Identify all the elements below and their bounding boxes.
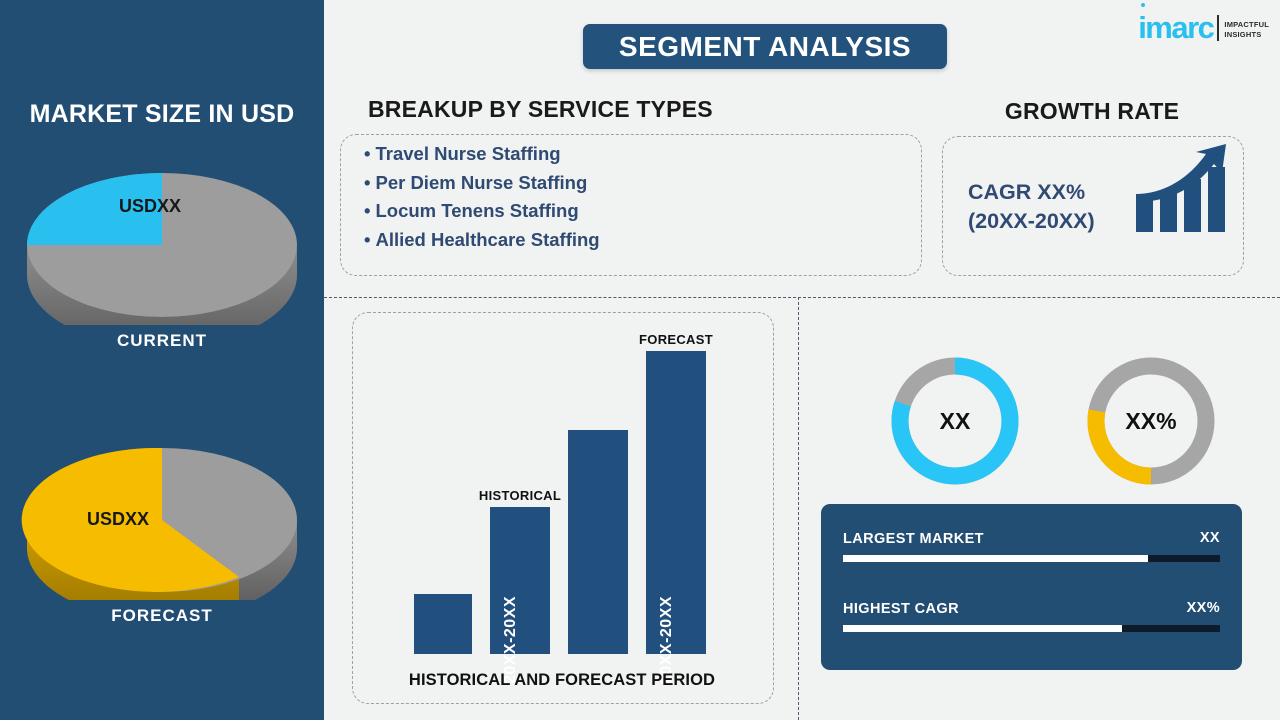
bar-2-top-label: HISTORICAL (479, 488, 561, 503)
cagr-donut: XX% (1082, 352, 1220, 490)
stat-largest-market-fill (843, 555, 1148, 562)
logo-tagline-line2: INSIGHTS (1224, 30, 1269, 40)
page-title: SEGMENT ANALYSIS (583, 24, 947, 69)
market-size-sidebar: MARKET SIZE IN USD USDXX CURRENT (0, 0, 324, 720)
bar-2: HISTORICAL 20XX-20XX (490, 507, 550, 654)
imarc-logo: imarc IMPACTFUL INSIGHTS (1138, 12, 1269, 43)
bullet-icon: • (364, 200, 370, 221)
bar-3 (568, 430, 628, 654)
stat-highest-cagr: HIGHEST CAGR XX% (843, 600, 1220, 632)
infographic-canvas: MARKET SIZE IN USD USDXX CURRENT (0, 0, 1280, 720)
forecast-pie-caption: FORECAST (0, 606, 324, 626)
logo-wordmark-text: imarc (1138, 10, 1213, 45)
bullet-icon: • (364, 143, 370, 164)
forecast-pie-value: USDXX (87, 509, 149, 529)
service-types-heading: BREAKUP BY SERVICE TYPES (368, 96, 713, 123)
list-item-label: Allied Healthcare Staffing (375, 229, 599, 250)
market-share-donut-value: XX (940, 408, 971, 434)
stat-highest-cagr-value: XX% (1187, 600, 1220, 616)
stat-largest-market: LARGEST MARKET XX (843, 530, 1220, 562)
forecast-pie-block: USDXX FORECAST (0, 425, 324, 626)
key-stats-panel: LARGEST MARKET XX HIGHEST CAGR XX% (821, 504, 1242, 670)
list-item: •Travel Nurse Staffing (364, 140, 600, 169)
bullet-icon: • (364, 229, 370, 250)
list-item: •Locum Tenens Staffing (364, 197, 600, 226)
list-item-label: Locum Tenens Staffing (375, 200, 578, 221)
cagr-text: CAGR XX% (20XX-20XX) (968, 178, 1095, 236)
stat-largest-market-value: XX (1200, 530, 1220, 546)
service-types-list: •Travel Nurse Staffing •Per Diem Nurse S… (364, 140, 600, 254)
stat-highest-cagr-track (843, 625, 1220, 632)
bar-4: FORECAST 20XX-20XX (646, 351, 706, 654)
stat-highest-cagr-label: HIGHEST CAGR (843, 601, 959, 617)
current-pie-chart: USDXX (17, 150, 307, 325)
current-pie-block: USDXX CURRENT (0, 150, 324, 351)
logo-tagline-line1: IMPACTFUL (1224, 20, 1269, 30)
horizontal-divider (324, 297, 1280, 298)
list-item: •Per Diem Nurse Staffing (364, 169, 600, 198)
forecast-pie-chart: USDXX (17, 425, 307, 600)
growth-arrow-bars-icon (1134, 142, 1230, 234)
vertical-divider (798, 297, 799, 720)
sidebar-title: MARKET SIZE IN USD (0, 100, 324, 129)
list-item: •Allied Healthcare Staffing (364, 226, 600, 255)
cagr-line2: (20XX-20XX) (968, 207, 1095, 236)
logo-dot-icon (1141, 3, 1145, 7)
list-item-label: Per Diem Nurse Staffing (375, 172, 587, 193)
market-share-donut: XX (886, 352, 1024, 490)
bar-1 (414, 594, 472, 654)
main-panel: SEGMENT ANALYSIS imarc IMPACTFUL INSIGHT… (324, 0, 1280, 720)
bar-4-top-label: FORECAST (639, 332, 713, 347)
logo-wordmark: imarc (1138, 12, 1213, 43)
current-pie-value: USDXX (119, 196, 181, 216)
stat-highest-cagr-fill (843, 625, 1122, 632)
logo-tagline: IMPACTFUL INSIGHTS (1224, 20, 1269, 40)
list-item-label: Travel Nurse Staffing (375, 143, 560, 164)
logo-divider (1217, 15, 1219, 41)
bullet-icon: • (364, 172, 370, 193)
cagr-line1: CAGR XX% (968, 178, 1095, 207)
current-pie-caption: CURRENT (0, 331, 324, 351)
stat-largest-market-track (843, 555, 1220, 562)
bar-chart-caption: HISTORICAL AND FORECAST PERIOD (352, 671, 772, 690)
cagr-donut-value: XX% (1125, 408, 1176, 434)
stat-largest-market-label: LARGEST MARKET (843, 531, 984, 547)
growth-rate-heading: GROWTH RATE (932, 98, 1252, 125)
bar-chart: HISTORICAL 20XX-20XX FORECAST 20XX-20XX … (352, 312, 772, 702)
